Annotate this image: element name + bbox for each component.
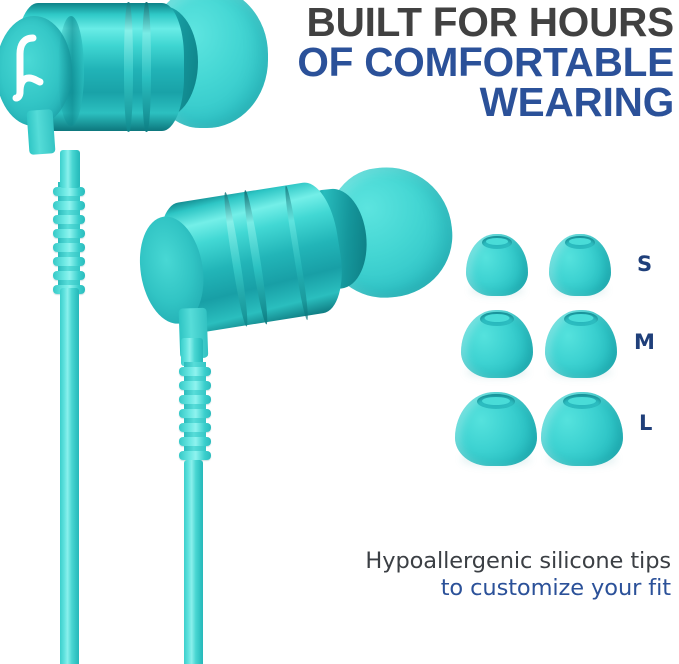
earbud-left-cap-rim — [58, 16, 84, 126]
earbud-left-ring-2 — [142, 2, 151, 132]
ear-tip-s-1 — [466, 234, 528, 296]
size-label-m: M — [634, 330, 664, 354]
waveform-logo-icon — [7, 32, 51, 106]
ear-tip-s-2 — [549, 234, 611, 296]
caption-line-2: to customize your fit — [251, 575, 671, 602]
cable-left-upper — [60, 150, 80, 188]
earbud-left — [0, 0, 286, 177]
cable-right-strain-relief — [182, 362, 208, 474]
caption-block: Hypoallergenic silicone tips to customiz… — [251, 548, 671, 603]
cable-left-main — [60, 288, 79, 664]
ear-tip-m-1 — [461, 310, 533, 378]
product-marketing-image: BUILT FOR HOURS OF COMFORTABLE WEARING — [0, 0, 679, 664]
headline-line-2: OF COMFORTABLE — [244, 42, 674, 82]
headline-line-1: BUILT FOR HOURS — [244, 2, 674, 42]
ear-tip-l-2 — [541, 392, 623, 466]
size-label-l: L — [639, 411, 669, 435]
headline-line-3: WEARING — [244, 82, 674, 122]
earbud-left-ring-1 — [124, 2, 133, 132]
ear-tip-m-2 — [545, 310, 617, 378]
size-label-s: S — [637, 252, 667, 276]
caption-line-1: Hypoallergenic silicone tips — [251, 548, 671, 575]
earbud-left-cable-stem — [26, 109, 55, 155]
headline-block: BUILT FOR HOURS OF COMFORTABLE WEARING — [244, 2, 674, 122]
ear-tip-l-1 — [455, 392, 537, 466]
cable-right-main — [184, 460, 203, 664]
